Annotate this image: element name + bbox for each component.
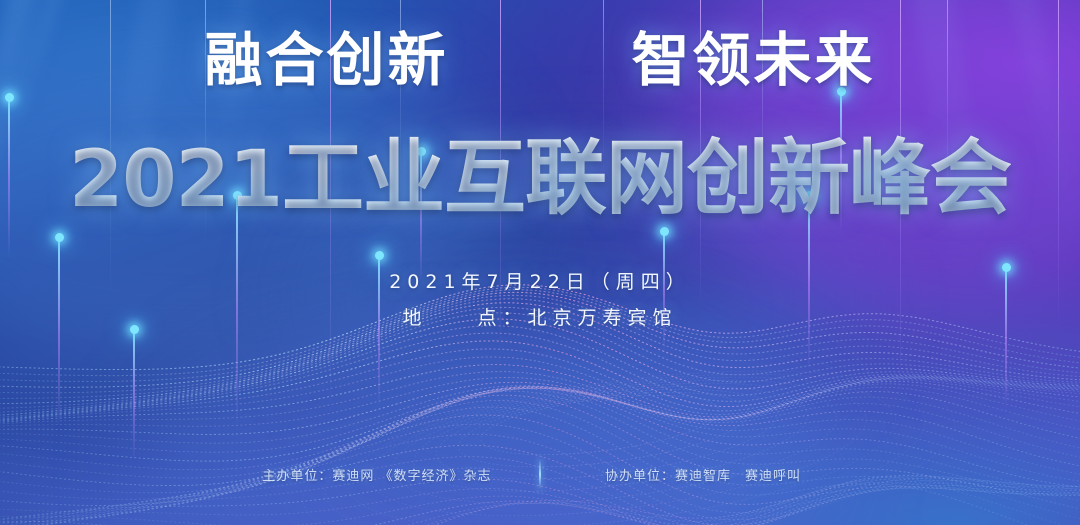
wave-line <box>0 287 1080 375</box>
wave-swirl-ring <box>409 368 814 510</box>
wave-line <box>0 401 1080 525</box>
wave-line <box>0 384 1080 443</box>
wave-line <box>0 386 1080 499</box>
wave-line <box>0 478 1080 525</box>
glow-dot-icon <box>5 93 14 102</box>
wave-swirl-ring <box>432 374 783 495</box>
wave-line <box>0 319 1080 416</box>
wave-line <box>0 365 1080 424</box>
footer-divider <box>539 458 541 490</box>
wave-swirl-ring <box>339 351 903 525</box>
wave-line <box>0 388 1080 478</box>
wave-line <box>0 484 1080 525</box>
wave-line <box>0 372 1080 425</box>
wave-swirl-ring <box>385 362 843 524</box>
cohost-organizer-credit: 协办单位：赛迪智库 赛迪呼叫 <box>553 465 853 484</box>
event-date-line: 2021年7月22日（周四） <box>0 267 1080 294</box>
wave-line <box>0 434 1080 525</box>
wave-line <box>0 407 1080 525</box>
wave-line <box>0 326 1080 419</box>
wave-swirl-ring <box>362 357 873 525</box>
wave-line <box>0 476 1080 525</box>
wave-line <box>0 468 1080 525</box>
wave-line <box>0 388 1080 461</box>
glow-dot-icon <box>55 233 64 242</box>
wave-line <box>0 457 1080 525</box>
wave-line <box>0 378 1080 427</box>
wave-line <box>0 349 1080 422</box>
wave-line <box>0 424 1080 525</box>
poster-main-title: 2021工业互联网创新峰会 <box>0 138 1080 220</box>
wave-line <box>0 387 1080 452</box>
wave-line <box>0 341 1080 421</box>
wave-line <box>0 395 1080 522</box>
wave-line <box>0 357 1080 423</box>
wave-line <box>0 391 1080 517</box>
wave-swirl-ring <box>293 340 964 525</box>
title-main-text: 工业互联网创新峰会 <box>282 131 1011 226</box>
wave-line <box>0 415 1080 525</box>
wave-line <box>0 389 1080 512</box>
wave-swirl-ring <box>478 385 723 466</box>
event-venue-line: 地 点：北京万寿宾馆 <box>0 303 1080 330</box>
glow-dot-icon <box>375 251 384 260</box>
wave-line <box>0 333 1080 420</box>
wave-line <box>0 387 1080 506</box>
title-year: 2021 <box>69 135 282 225</box>
glow-dot-stem <box>133 330 135 460</box>
host-organizer-credit: 主办单位：赛迪网 《数字经济》杂志 <box>227 465 527 484</box>
wave-line <box>0 386 1080 492</box>
wave-line <box>0 387 1080 486</box>
wave-line <box>0 480 1080 525</box>
wave-line <box>0 388 1080 469</box>
wave-line <box>0 445 1080 525</box>
glow-dot-icon <box>660 227 669 236</box>
wave-swirl-ring <box>316 346 934 525</box>
poster-tagline: 融合创新 智领未来 <box>0 32 1080 90</box>
event-poster: 融合创新 智领未来 2021工业互联网创新峰会 2021年7月22日（周四） 地… <box>0 0 1080 525</box>
glow-haze-bottom <box>140 315 840 525</box>
wave-line <box>0 475 1080 525</box>
wave-swirl-ring <box>455 379 753 480</box>
wave-line <box>0 382 1080 435</box>
poster-footer: 主办单位：赛迪网 《数字经济》杂志 协办单位：赛迪智库 赛迪呼叫 <box>0 458 1080 490</box>
wave-line <box>0 476 1080 525</box>
wave-line <box>0 477 1080 525</box>
